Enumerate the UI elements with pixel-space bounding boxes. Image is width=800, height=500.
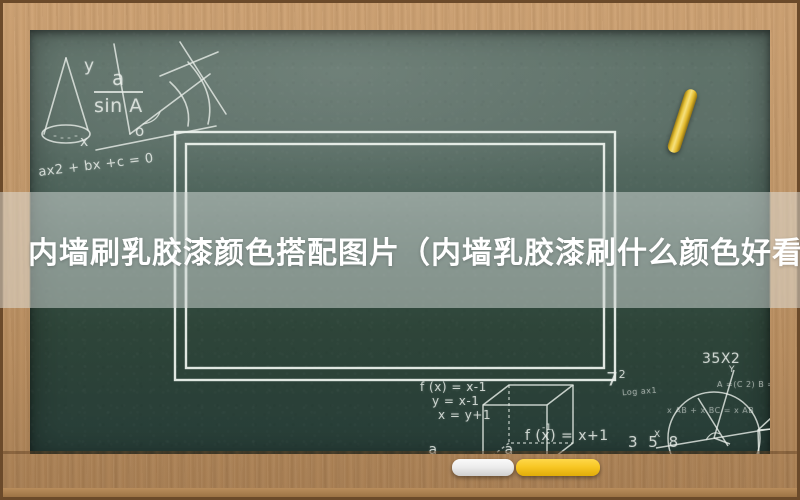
chalk-label-x-axis: x bbox=[80, 134, 89, 150]
chalk-equation-fx: f (x) = x-1 y = x-1 x = y+1 bbox=[420, 380, 491, 422]
chalk-line-y: y = x-1 bbox=[420, 394, 491, 408]
chalk-stick-yellow-ledge bbox=[516, 459, 600, 476]
chalk-superscript-inverse: -1 bbox=[542, 423, 552, 433]
fraction-bar bbox=[94, 91, 143, 93]
chalk-number-seven: 72 bbox=[606, 368, 626, 390]
caption-title: 内墙刷乳胶漆颜色搭配图片（内墙乳胶漆刷什么颜色好看） bbox=[0, 192, 800, 308]
chalk-ledge-lip bbox=[3, 488, 797, 497]
chalk-fraction-a-over-sinA: a sin A bbox=[94, 66, 143, 117]
frame-top-rail bbox=[3, 3, 797, 31]
chalk-equation-segments: x AB + x BC = x AB bbox=[667, 406, 754, 415]
chalk-equation-inverse: f (x) = x+1 bbox=[525, 428, 609, 444]
chalk-label-matrices: A =(C 2) B =(C 3) I =(C 4) bbox=[717, 380, 770, 389]
chalk-label-x-axis-2: X bbox=[654, 430, 661, 440]
chalkboard-banner: y x o a sin A ax2 + bx +c = 0 f (x) = x-… bbox=[0, 0, 800, 500]
chalk-line-fx: f (x) = x-1 bbox=[420, 380, 491, 394]
chalk-line-x: x = y+1 bbox=[420, 408, 491, 422]
chalk-stick-white-ledge bbox=[452, 459, 514, 476]
chalk-label-y-axis: y bbox=[84, 56, 95, 76]
chalk-label-y-axis-2: Y bbox=[729, 365, 735, 375]
chalk-label-angle-o: o bbox=[135, 122, 145, 140]
